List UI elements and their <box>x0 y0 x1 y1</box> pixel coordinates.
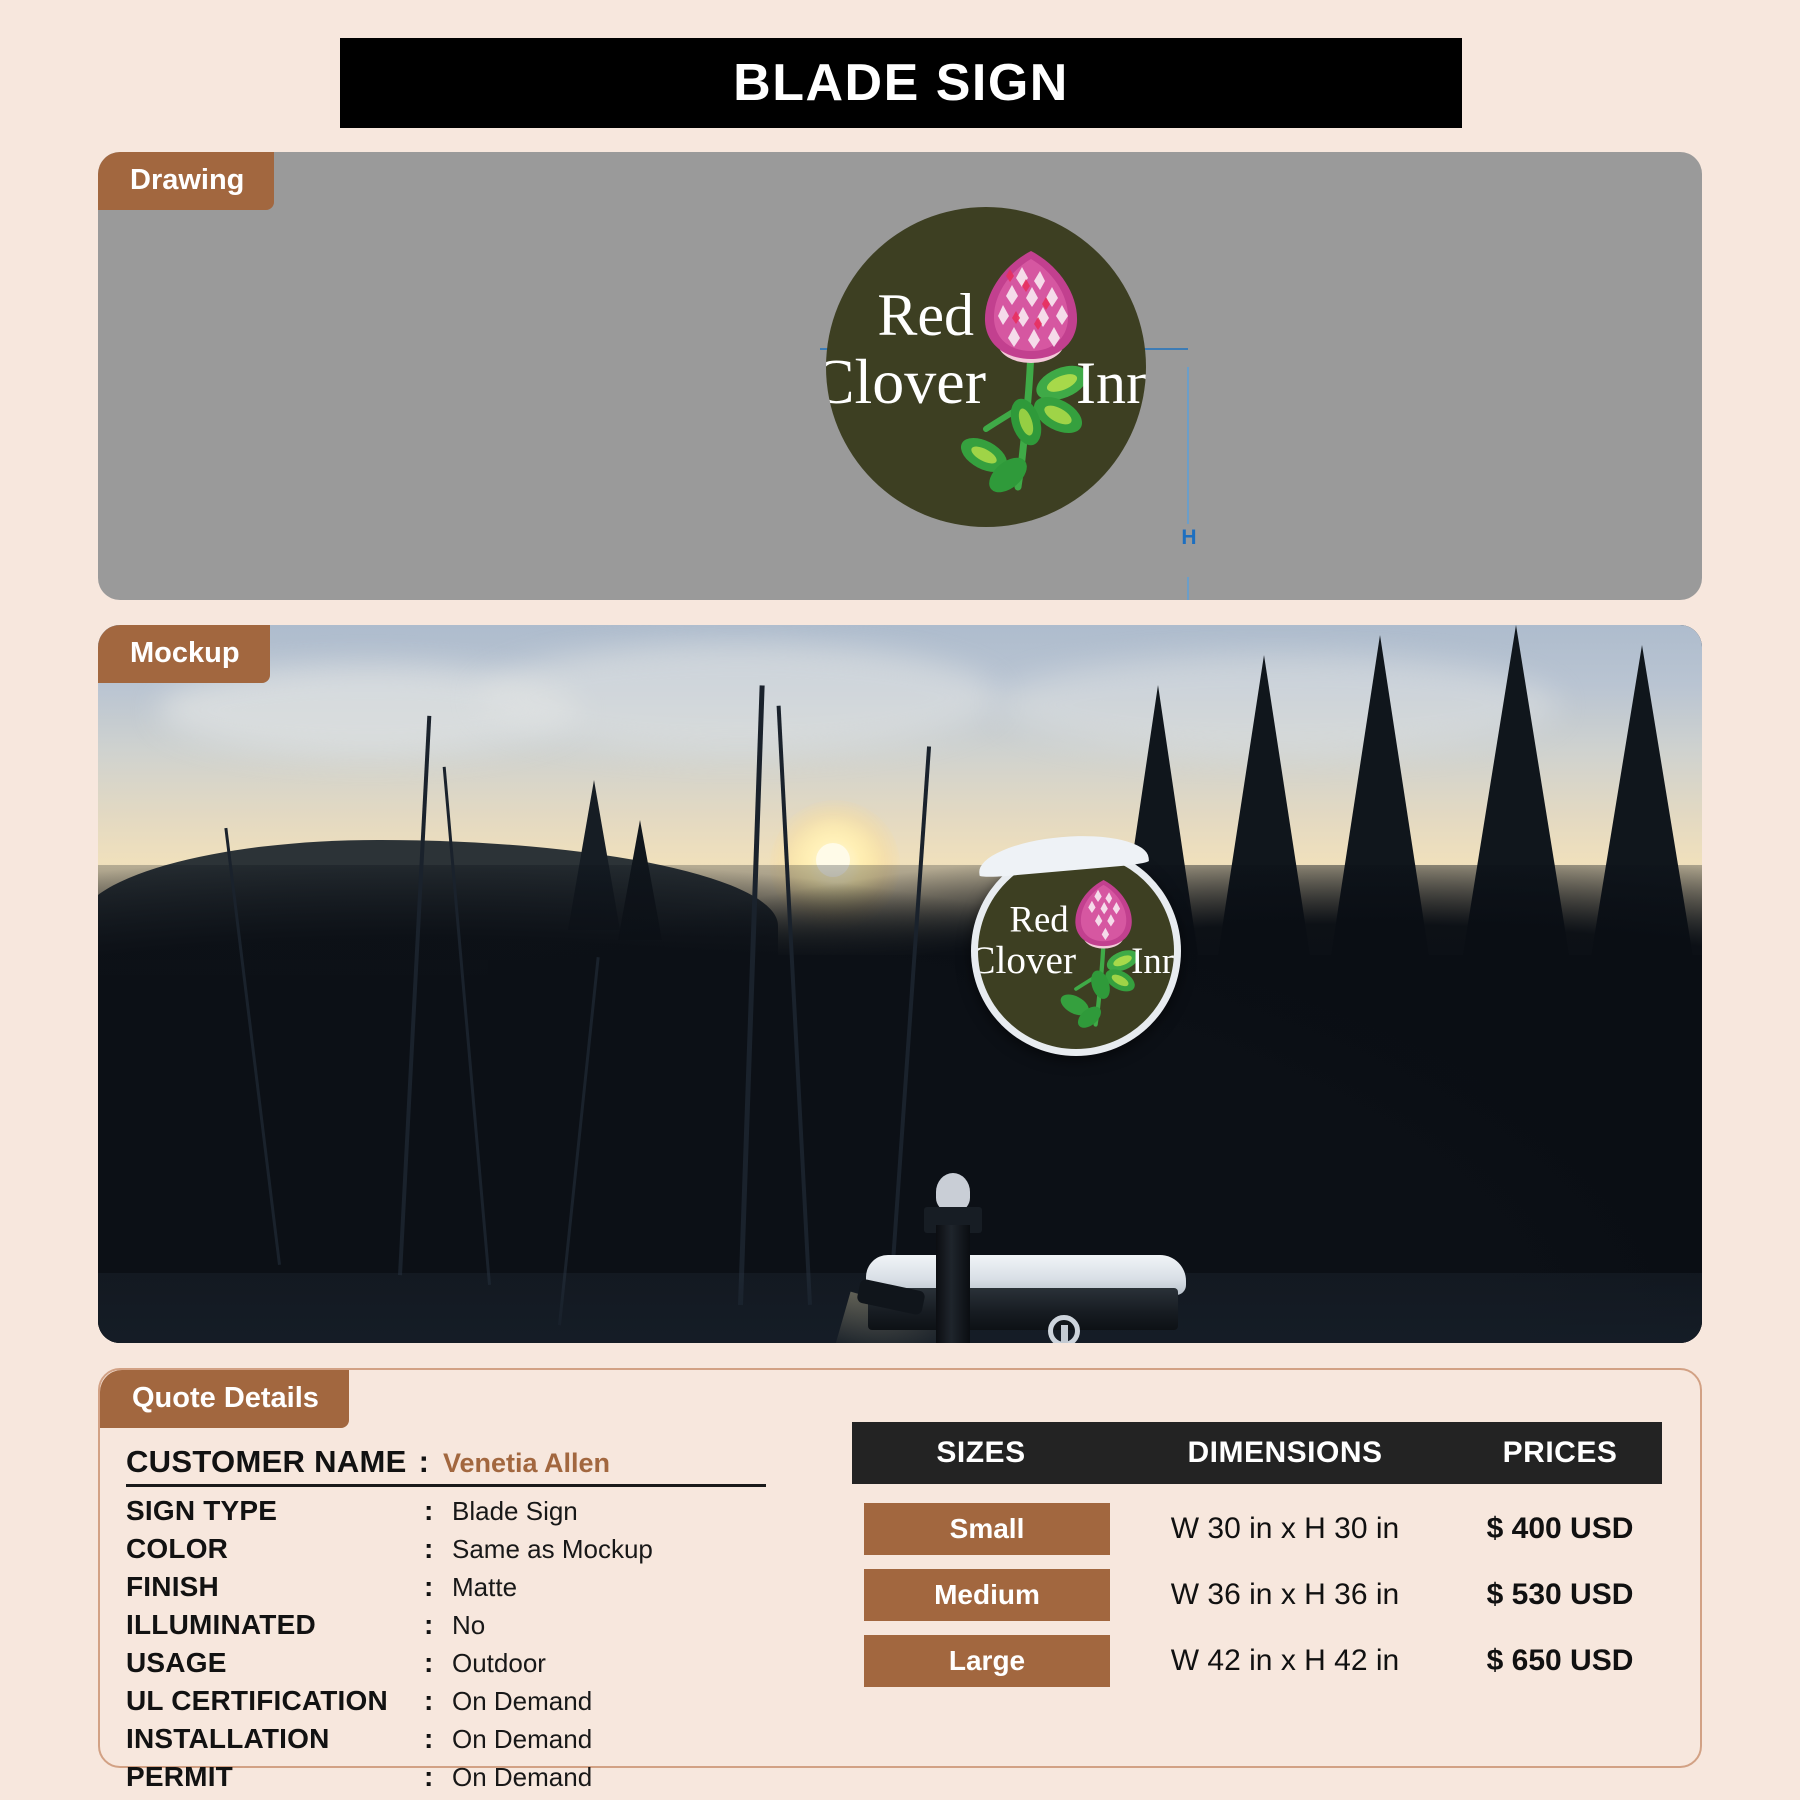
spec-colon: : <box>424 1611 452 1639</box>
quote-sheet-page: BLADE SIGN Drawing W H <box>0 0 1800 1800</box>
spec-list: CUSTOMER NAME : Venetia Allen SIGN TYPE … <box>100 1422 840 1791</box>
spec-row: PERMIT : On Demand <box>126 1763 840 1791</box>
logo-line-2: Clover <box>826 346 986 417</box>
spec-value: No <box>452 1612 485 1638</box>
spec-row: UL CERTIFICATION : On Demand <box>126 1687 840 1715</box>
logo-line-1: Red <box>877 282 974 348</box>
spec-key: PERMIT <box>126 1763 424 1791</box>
spec-colon: : <box>424 1497 452 1525</box>
price-value: $ 400 USD <box>1460 1512 1660 1546</box>
mockup-tab-label: Mockup <box>98 625 270 683</box>
customer-name-value: Venetia Allen <box>443 1448 610 1479</box>
post-finial <box>936 1173 970 1211</box>
spec-key: SIGN TYPE <box>126 1497 424 1525</box>
spec-colon: : <box>424 1725 452 1753</box>
spec-value: On Demand <box>452 1764 592 1790</box>
spec-row: INSTALLATION : On Demand <box>126 1725 840 1753</box>
cloud <box>478 643 998 753</box>
quote-details-panel: Quote Details CUSTOMER NAME : Venetia Al… <box>98 1368 1702 1768</box>
spec-key: INSTALLATION <box>126 1725 424 1753</box>
spec-key: COLOR <box>126 1535 424 1563</box>
dimensions-value: W 30 in x H 30 in <box>1110 1512 1460 1546</box>
size-chip: Small <box>864 1503 1110 1555</box>
quote-details-tab-label: Quote Details <box>100 1370 349 1428</box>
price-value: $ 650 USD <box>1460 1644 1660 1678</box>
spec-colon: : <box>424 1649 452 1677</box>
spec-colon: : <box>424 1763 452 1791</box>
table-row: Large W 42 in x H 42 in $ 650 USD <box>852 1632 1662 1690</box>
spec-key: ILLUMINATED <box>126 1611 424 1639</box>
size-chip: Medium <box>864 1569 1110 1621</box>
svg-text:Red: Red <box>1009 898 1068 939</box>
svg-text:Clover: Clover <box>978 939 1076 982</box>
spec-colon: : <box>424 1573 452 1601</box>
spec-value: Matte <box>452 1574 517 1600</box>
drawing-stage: W H <box>98 152 1702 600</box>
price-table-body: Small W 30 in x H 30 in $ 400 USD Medium… <box>852 1500 1662 1698</box>
logo-line-3: Inn <box>1076 350 1146 416</box>
spec-colon: : <box>424 1687 452 1715</box>
spec-value: Same as Mockup <box>452 1536 653 1562</box>
mockup-red-clover-inn-logo: Red Clover Inn <box>978 853 1174 1049</box>
drawing-tab-label: Drawing <box>98 152 274 210</box>
customer-name-label: CUSTOMER NAME <box>126 1444 407 1480</box>
mockup-panel: Mockup <box>98 625 1702 1343</box>
table-row: Small W 30 in x H 30 in $ 400 USD <box>852 1500 1662 1558</box>
spec-key: USAGE <box>126 1649 424 1677</box>
height-dimension-line-top <box>1187 367 1189 524</box>
spec-colon: : <box>424 1535 452 1563</box>
column-header-sizes: SIZES <box>852 1436 1110 1470</box>
size-chip: Large <box>864 1635 1110 1687</box>
price-table-header: SIZES DIMENSIONS PRICES <box>852 1422 1662 1484</box>
mockup-logo-artwork: Red Clover Inn <box>978 853 1174 1049</box>
sign-post <box>936 1225 970 1343</box>
height-dimension-line-bottom <box>1187 577 1189 600</box>
table-row: Medium W 36 in x H 36 in $ 530 USD <box>852 1566 1662 1624</box>
logo-artwork: Red Clover Inn <box>826 207 1146 527</box>
svg-text:Inn: Inn <box>1131 940 1174 981</box>
red-clover-inn-logo: Red Clover Inn <box>826 207 1146 527</box>
spec-row: ILLUMINATED : No <box>126 1611 840 1639</box>
spec-row: SIGN TYPE : Blade Sign <box>126 1497 840 1525</box>
drawing-panel: Drawing W H <box>98 152 1702 600</box>
price-value: $ 530 USD <box>1460 1578 1660 1612</box>
price-table: SIZES DIMENSIONS PRICES Small W 30 in x … <box>840 1422 1680 1791</box>
page-title-bar: BLADE SIGN <box>340 38 1462 128</box>
sign-hanger <box>1061 1325 1068 1343</box>
page-title: BLADE SIGN <box>733 53 1069 113</box>
dimensions-value: W 42 in x H 42 in <box>1110 1644 1460 1678</box>
spec-key: FINISH <box>126 1573 424 1601</box>
column-header-prices: PRICES <box>1460 1436 1660 1470</box>
mockup-photo: Red Clover Inn <box>98 625 1702 1343</box>
spec-value: Outdoor <box>452 1650 546 1676</box>
height-dimension-label: H <box>1174 526 1204 550</box>
customer-name-colon: : <box>407 1444 443 1480</box>
dimensions-value: W 36 in x H 36 in <box>1110 1578 1460 1612</box>
customer-name-row: CUSTOMER NAME : Venetia Allen <box>126 1444 766 1487</box>
mockup-blade-sign: Red Clover Inn <box>978 853 1174 1049</box>
spec-value: On Demand <box>452 1688 592 1714</box>
spec-value: On Demand <box>452 1726 592 1752</box>
spec-value: Blade Sign <box>452 1498 578 1524</box>
column-header-dimensions: DIMENSIONS <box>1110 1436 1460 1470</box>
spec-row: COLOR : Same as Mockup <box>126 1535 840 1563</box>
spec-key: UL CERTIFICATION <box>126 1687 424 1715</box>
quote-body: CUSTOMER NAME : Venetia Allen SIGN TYPE … <box>100 1422 1700 1791</box>
spec-row: FINISH : Matte <box>126 1573 840 1601</box>
spec-row: USAGE : Outdoor <box>126 1649 840 1677</box>
